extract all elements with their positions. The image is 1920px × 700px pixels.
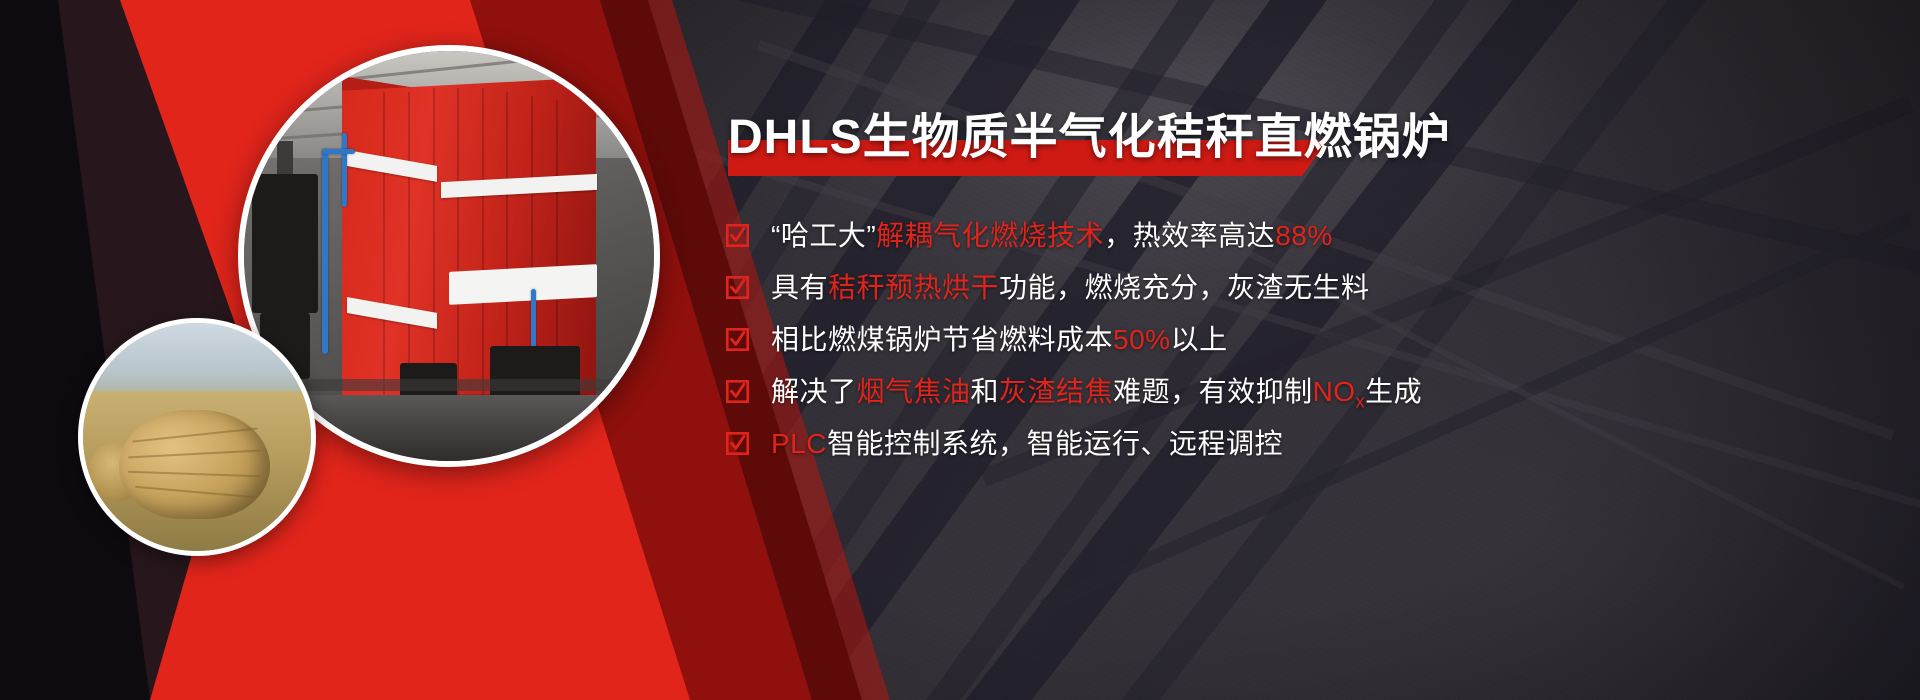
feature-list: “哈工大”解耦气化燃烧技术，热效率高达88% 具有秸秆预热烘干功能，燃烧充分，灰… — [726, 218, 1586, 478]
checkbox-checked-icon — [726, 224, 749, 247]
banner-title-block: DHLS生物质半气化秸秆直燃锅炉 — [728, 96, 1508, 180]
list-item: 具有秸秆预热烘干功能，燃烧充分，灰渣无生料 — [726, 270, 1586, 306]
checkbox-checked-icon — [726, 432, 749, 455]
product-banner: DHLS生物质半气化秸秆直燃锅炉 “哈工大”解耦气化燃烧技术，热效率高达88% … — [0, 0, 1920, 700]
feature-text-2: 具有秸秆预热烘干功能，燃烧充分，灰渣无生料 — [771, 270, 1370, 306]
list-item: 解决了烟气焦油和灰渣结焦难题，有效抑制NOx生成 — [726, 374, 1586, 410]
list-item: 相比燃煤锅炉节省燃料成本50%以上 — [726, 322, 1586, 358]
feature-text-5: PLC智能控制系统，智能运行、远程调控 — [771, 426, 1283, 462]
page-title: DHLS生物质半气化秸秆直燃锅炉 — [728, 96, 1508, 180]
straw-bale-photo — [78, 318, 316, 556]
feature-text-1: “哈工大”解耦气化燃烧技术，热效率高达88% — [771, 218, 1333, 254]
checkbox-checked-icon — [726, 328, 749, 351]
list-item: “哈工大”解耦气化燃烧技术，热效率高达88% — [726, 218, 1586, 254]
checkbox-checked-icon — [726, 380, 749, 403]
feature-text-4: 解决了烟气焦油和灰渣结焦难题，有效抑制NOx生成 — [771, 374, 1422, 420]
list-item: PLC智能控制系统，智能运行、远程调控 — [726, 426, 1586, 462]
feature-text-3: 相比燃煤锅炉节省燃料成本50%以上 — [771, 322, 1228, 358]
checkbox-checked-icon — [726, 276, 749, 299]
